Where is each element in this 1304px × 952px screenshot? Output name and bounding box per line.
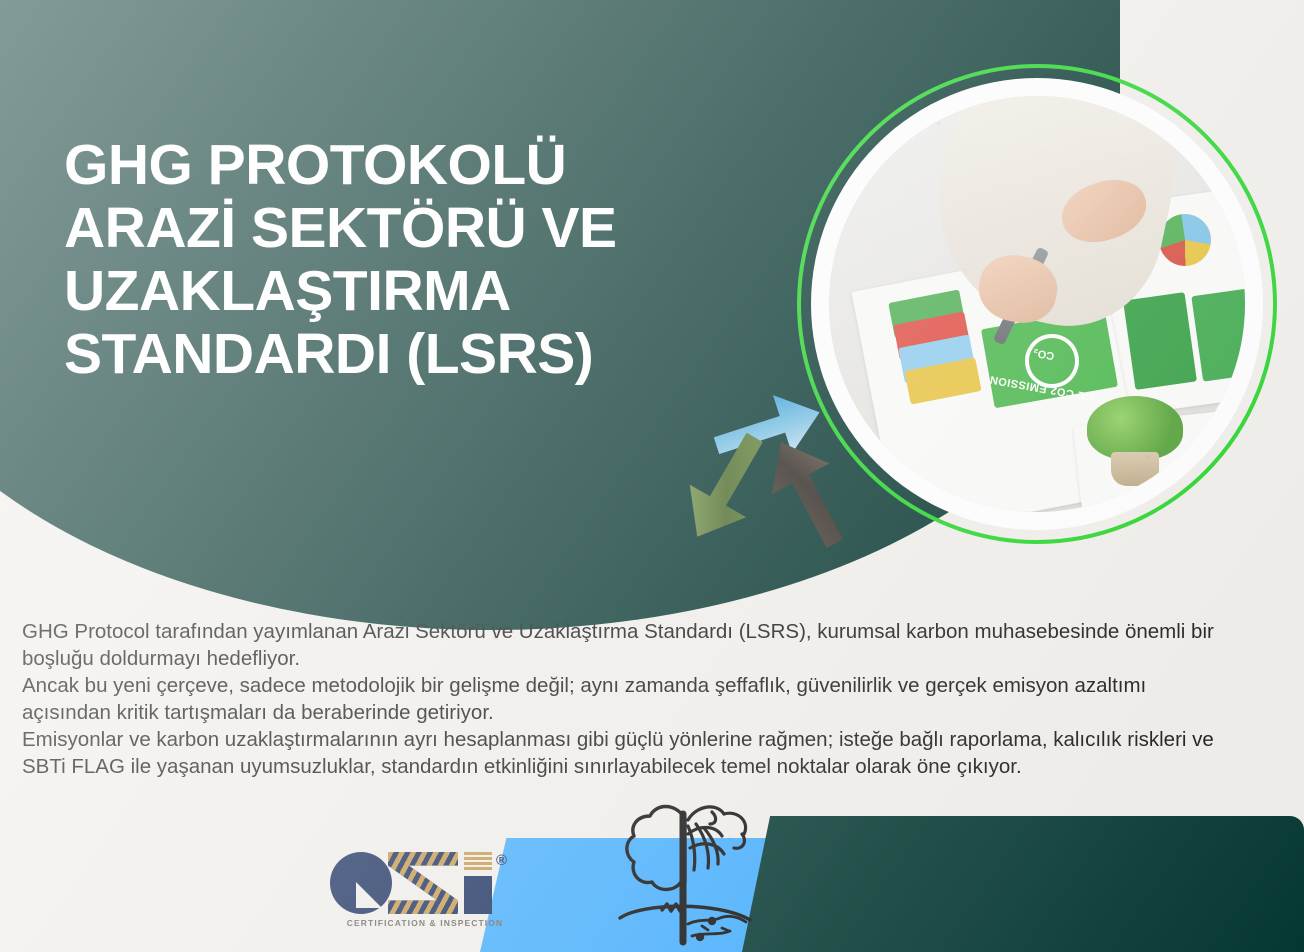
- qsi-letter-i-dot-icon: [464, 852, 492, 872]
- title-line-3: UZAKLAŞTIRMA: [64, 260, 764, 323]
- qsi-letter-q-icon: [330, 852, 392, 914]
- poster-canvas: GHG PROTOKOLÜ ARAZİ SEKTÖRÜ VE UZAKLAŞTI…: [0, 0, 1304, 952]
- qsi-tagline: CERTIFICATION & INSPECTION: [332, 918, 518, 928]
- qsi-logo: ® CERTIFICATION & INSPECTION: [330, 848, 520, 932]
- photo-plant: [1087, 396, 1183, 488]
- photo-tile-governance: [1123, 292, 1197, 390]
- qsi-registered-mark: ®: [496, 852, 507, 869]
- title-line-2: ARAZİ SEKTÖRÜ VE: [64, 197, 764, 260]
- tree-soil-logo: [600, 790, 770, 952]
- footer-green-band: [742, 816, 1304, 952]
- recycle-arrow-city-icon: [747, 424, 869, 562]
- photo-plant-leaves: [1087, 396, 1183, 460]
- hero-photo: NET ZERO CO₂ CE CO2 EMISSION: [829, 96, 1245, 512]
- page-title: GHG PROTOKOLÜ ARAZİ SEKTÖRÜ VE UZAKLAŞTI…: [64, 134, 764, 386]
- qsi-letter-i-icon: [464, 876, 492, 914]
- tree-soil-icon: [600, 790, 770, 952]
- title-line-1: GHG PROTOKOLÜ: [64, 134, 764, 197]
- body-text: GHG Protocol tarafından yayımlanan Arazi…: [22, 618, 1222, 780]
- body-paragraph-1: GHG Protocol tarafından yayımlanan Arazi…: [22, 618, 1222, 672]
- recycling-symbol-collage: [684, 392, 884, 582]
- body-paragraph-3: Emisyonlar ve karbon uzaklaştırmalarının…: [22, 726, 1222, 780]
- body-paragraph-2: Ancak bu yeni çerçeve, sadece metodoloji…: [22, 672, 1222, 726]
- qsi-stripes-icon: [388, 852, 458, 914]
- title-line-4: STANDARDI (LSRS): [64, 323, 764, 386]
- photo-plant-pot: [1111, 452, 1159, 486]
